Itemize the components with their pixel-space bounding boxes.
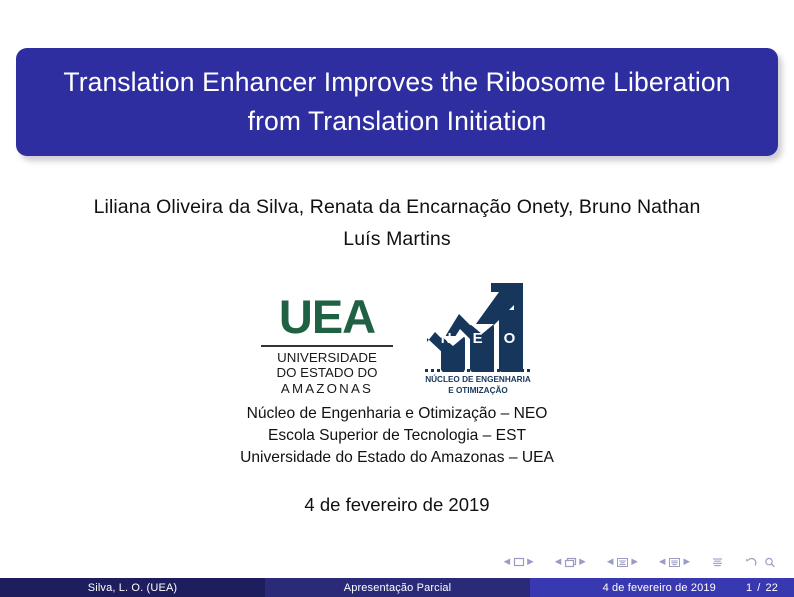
footer-page-total: 22 xyxy=(765,582,778,594)
slide-nav-group[interactable]: ◀ ▶ xyxy=(504,557,534,567)
title-block: Translation Enhancer Improves the Riboso… xyxy=(16,48,778,156)
institution-block: Núcleo de Engenharia e Otimização – NEO … xyxy=(0,403,794,469)
uea-divider-rule xyxy=(261,345,393,347)
institution-line-1: Núcleo de Engenharia e Otimização – NEO xyxy=(0,403,794,425)
uea-subtitle-line-1: UNIVERSIDADE xyxy=(277,350,378,365)
neo-caption: NÚCLEO DE ENGENHARIA E OTIMIZAÇÃO xyxy=(413,374,543,396)
footer-page-indicator: 1 / 22 xyxy=(746,582,778,594)
navigation-symbols: ◀ ▶ ◀ ▶ ◀ xyxy=(504,552,776,572)
uea-subtitle: UNIVERSIDADE DO ESTADO DO AMAZONAS xyxy=(277,350,378,396)
next-slide-arrow[interactable]: ▶ xyxy=(527,558,534,567)
beamer-title-slide: Translation Enhancer Improves the Riboso… xyxy=(0,0,794,597)
title-block-fill: Translation Enhancer Improves the Riboso… xyxy=(16,48,778,156)
frame-nav-group[interactable]: ◀ ▶ xyxy=(555,557,586,568)
author-list: Liliana Oliveira da Silva, Renata da Enc… xyxy=(0,192,794,255)
footer-subtitle: Apresentação Parcial xyxy=(265,578,530,597)
neo-growth-chart-icon xyxy=(419,280,537,372)
uea-subtitle-line-2: DO ESTADO DO xyxy=(277,365,378,380)
author-line-1: Liliana Oliveira da Silva, Renata da Enc… xyxy=(0,192,794,224)
neo-caption-line-2: E OTIMIZAÇÃO xyxy=(413,385,543,396)
back-icon[interactable] xyxy=(745,557,757,568)
prev-slide-arrow[interactable]: ◀ xyxy=(504,558,511,567)
neo-logo: N E O NÚCLEO DE ENGENHARIA E OTIMIZAÇÃO xyxy=(419,280,537,396)
next-section-arrow[interactable]: ▶ xyxy=(683,558,690,567)
prev-section-arrow[interactable]: ◀ xyxy=(659,558,666,567)
frame-nav-icon[interactable] xyxy=(564,557,577,568)
presentation-date: 4 de fevereiro de 2019 xyxy=(0,494,794,516)
subsection-nav-icon[interactable] xyxy=(616,557,629,568)
subsection-nav-group[interactable]: ◀ ▶ xyxy=(607,557,638,568)
prev-subsection-arrow[interactable]: ◀ xyxy=(607,558,614,567)
search-icon[interactable] xyxy=(764,557,776,568)
institution-line-3: Universidade do Estado do Amazonas – UEA xyxy=(0,447,794,469)
uea-logo: UEA UNIVERSIDADE DO ESTADO DO AMAZONAS xyxy=(257,295,397,396)
logo-row: UEA UNIVERSIDADE DO ESTADO DO AMAZONAS xyxy=(0,278,794,396)
footer-page-current: 1 xyxy=(746,582,752,594)
neo-caption-line-1: NÚCLEO DE ENGENHARIA xyxy=(413,374,543,385)
appendix-icon[interactable] xyxy=(711,557,724,568)
section-nav-group[interactable]: ◀ ▶ xyxy=(659,557,690,568)
prev-frame-arrow[interactable]: ◀ xyxy=(555,558,562,567)
footer-author: Silva, L. O. (UEA) xyxy=(0,578,265,597)
footer-page-separator: / xyxy=(757,582,760,594)
presentation-title: Translation Enhancer Improves the Riboso… xyxy=(41,63,752,141)
footer-date-and-page: 4 de fevereiro de 2019 1 / 22 xyxy=(530,578,794,597)
slide-nav-icon[interactable] xyxy=(513,557,525,567)
section-nav-icon[interactable] xyxy=(668,557,681,568)
title-line-1: Translation Enhancer Improves the Riboso… xyxy=(63,67,730,97)
next-subsection-arrow[interactable]: ▶ xyxy=(631,558,638,567)
footer-bar: Silva, L. O. (UEA) Apresentação Parcial … xyxy=(0,578,794,597)
neo-dotted-divider xyxy=(425,369,531,372)
institution-line-2: Escola Superior de Tecnologia – EST xyxy=(0,425,794,447)
author-line-2: Luís Martins xyxy=(0,224,794,256)
uea-wordmark: UEA xyxy=(279,295,375,340)
footer-date: 4 de fevereiro de 2019 xyxy=(603,582,716,594)
title-line-2: from Translation Initiation xyxy=(248,106,547,136)
next-frame-arrow[interactable]: ▶ xyxy=(579,558,586,567)
uea-subtitle-line-3: AMAZONAS xyxy=(277,381,378,396)
